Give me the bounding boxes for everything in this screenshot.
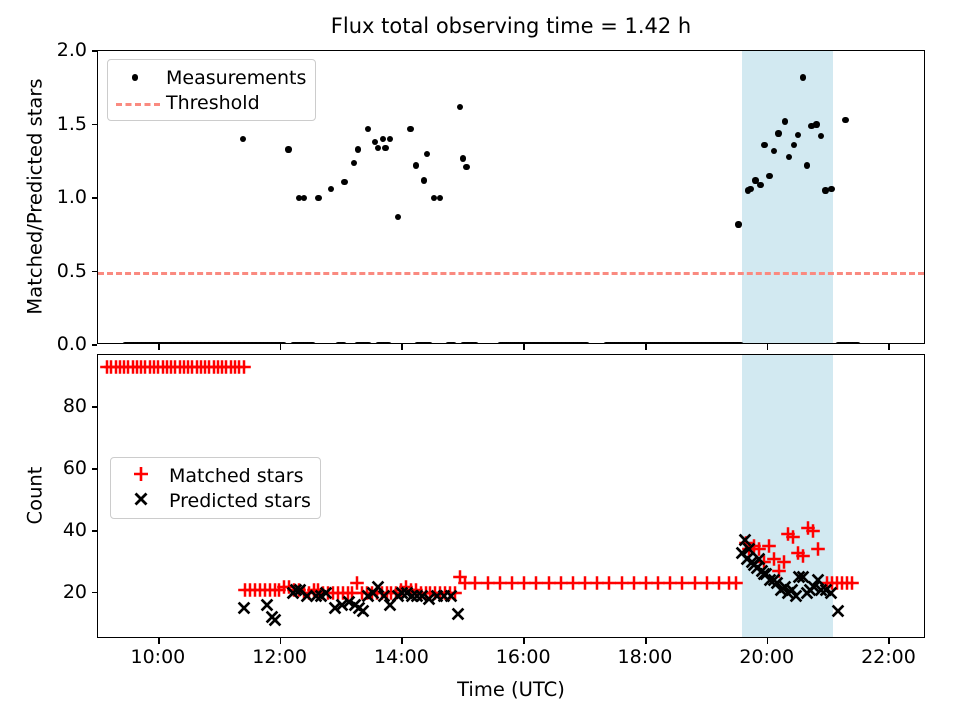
- legend-label-predicted-stars: Predicted stars: [164, 490, 311, 512]
- x-tick-label: 12:00: [252, 646, 307, 668]
- data-point-measurement: [315, 195, 321, 201]
- data-point-measurement: [757, 182, 763, 188]
- data-point-measurement-zero: [366, 342, 372, 344]
- y-tick-mark: [92, 530, 98, 532]
- y-tick-mark: [92, 344, 98, 346]
- x-tick-mark: [158, 344, 160, 350]
- legend-item-matched-stars: Matched stars: [118, 463, 311, 488]
- data-point-measurement: [395, 214, 401, 220]
- data-point-measurement-zero: [584, 342, 590, 344]
- data-point-measurement: [828, 186, 834, 192]
- data-point-measurement: [782, 118, 788, 124]
- data-point-measurement-zero: [737, 342, 743, 344]
- legend-bottom-panel: Matched stars Predicted stars: [110, 457, 321, 519]
- data-point-measurement-zero: [450, 342, 456, 344]
- x-tick-mark: [888, 638, 890, 644]
- data-point-measurement: [341, 179, 347, 185]
- x-marker-icon: [118, 490, 164, 512]
- plus-marker-icon: [118, 465, 164, 487]
- y-tick-label: 20: [63, 581, 87, 603]
- legend-label-threshold: Threshold: [161, 92, 260, 114]
- x-tick-label: 16:00: [496, 646, 551, 668]
- data-point-measurement: [463, 164, 469, 170]
- x-tick-label: 14:00: [374, 646, 429, 668]
- threshold-line: [98, 272, 924, 275]
- data-point-measurement: [407, 126, 413, 132]
- data-point-measurement: [437, 195, 443, 201]
- x-tick-mark: [523, 638, 525, 644]
- y-axis-label-top: Matched/Predicted stars: [24, 50, 47, 344]
- dashed-line-icon: [115, 92, 161, 114]
- x-tick-label: 20:00: [739, 646, 794, 668]
- y-tick-mark: [92, 124, 98, 126]
- data-point-measurement: [380, 136, 386, 142]
- legend-top-panel: Measurements Threshold: [107, 59, 316, 121]
- legend-item-predicted-stars: Predicted stars: [118, 488, 311, 513]
- y-tick-mark: [92, 271, 98, 273]
- data-point-measurement: [375, 145, 381, 151]
- data-point-measurement: [387, 136, 393, 142]
- x-tick-mark: [280, 638, 282, 644]
- data-point-measurement-zero: [426, 342, 432, 344]
- y-tick-mark: [92, 197, 98, 199]
- figure-canvas: Flux total observing time = 1.42 h 0.00.…: [0, 0, 960, 720]
- x-axis-label: Time (UTC): [97, 678, 925, 701]
- data-point-measurement-zero: [855, 342, 861, 344]
- y-tick-label: 1.5: [57, 113, 87, 135]
- y-tick-label: 1.0: [57, 186, 87, 208]
- y-tick-mark: [92, 592, 98, 594]
- y-tick-label: 2.0: [57, 39, 87, 61]
- data-point-measurement: [424, 151, 430, 157]
- x-tick-mark: [645, 344, 647, 350]
- legend-item-threshold: Threshold: [115, 90, 306, 115]
- x-tick-mark: [645, 638, 647, 644]
- x-tick-mark: [767, 344, 769, 350]
- x-tick-label: 10:00: [130, 646, 185, 668]
- data-point-measurement: [355, 146, 361, 152]
- y-tick-label: 0.5: [57, 260, 87, 282]
- data-point-measurement-zero: [341, 342, 347, 344]
- data-point-measurement: [328, 186, 334, 192]
- data-point-measurement: [771, 148, 777, 154]
- data-point-measurement-zero: [386, 342, 392, 344]
- data-point-measurement: [351, 160, 357, 166]
- data-point-measurement: [240, 136, 246, 142]
- x-tick-mark: [888, 344, 890, 350]
- y-tick-mark: [92, 50, 98, 52]
- y-tick-mark: [92, 468, 98, 470]
- legend-label-measurements: Measurements: [161, 67, 306, 89]
- legend-label-matched-stars: Matched stars: [164, 465, 303, 487]
- data-point-measurement: [413, 162, 419, 168]
- x-tick-mark: [401, 638, 403, 644]
- x-tick-mark: [767, 638, 769, 644]
- data-point-measurement: [766, 173, 772, 179]
- y-tick-label: 60: [63, 457, 87, 479]
- data-point-measurement-zero: [310, 342, 316, 344]
- data-point-measurement: [775, 130, 781, 136]
- x-tick-label: 22:00: [861, 646, 916, 668]
- x-tick-mark: [158, 638, 160, 644]
- data-point-measurement: [285, 146, 291, 152]
- x-tick-mark: [401, 344, 403, 350]
- data-point-measurement: [735, 221, 741, 227]
- data-point-measurement: [365, 126, 371, 132]
- highlight-span: [742, 51, 833, 343]
- data-point-measurement: [460, 155, 466, 161]
- data-point-measurement: [813, 121, 819, 127]
- y-tick-label: 40: [63, 519, 87, 541]
- data-point-measurement: [800, 74, 806, 80]
- y-tick-mark: [92, 406, 98, 408]
- dot-marker-icon: [115, 67, 161, 89]
- data-point-measurement: [421, 177, 427, 183]
- x-tick-label: 18:00: [618, 646, 673, 668]
- y-tick-label: 80: [63, 395, 87, 417]
- data-point-measurement: [761, 142, 767, 148]
- legend-item-measurements: Measurements: [115, 65, 306, 90]
- data-point-measurement-zero: [472, 342, 478, 344]
- data-point-measurement: [457, 104, 463, 110]
- x-tick-mark: [523, 344, 525, 350]
- figure-title: Flux total observing time = 1.42 h: [97, 14, 925, 38]
- data-point-measurement: [382, 145, 388, 151]
- y-axis-label-bottom: Count: [24, 354, 47, 638]
- x-tick-mark: [280, 344, 282, 350]
- y-tick-label: 0.0: [57, 333, 87, 355]
- data-point-measurement: [842, 117, 848, 123]
- data-point-measurement: [301, 195, 307, 201]
